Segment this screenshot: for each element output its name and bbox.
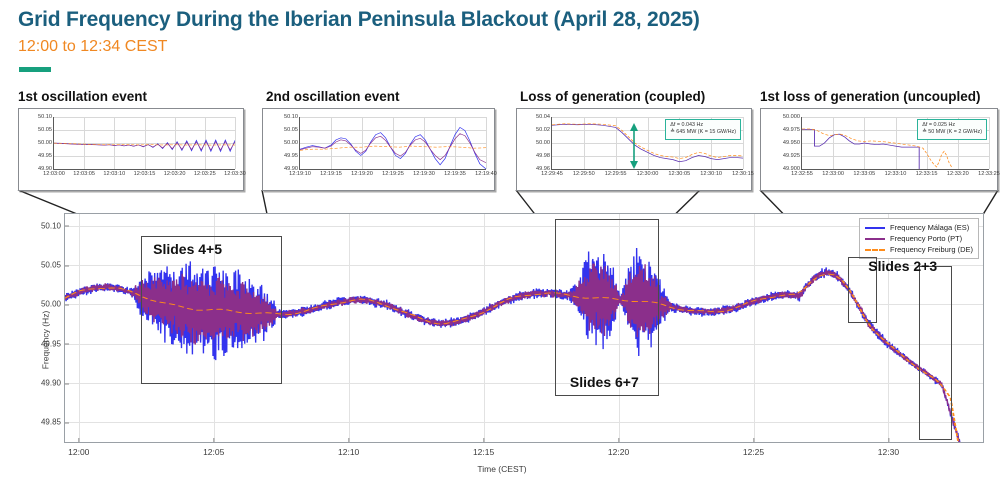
inset-3-annotation-line2: ≙ 645 MW (K = 15 GW/Hz) — [670, 129, 736, 136]
inset-4-title: 1st loss of generation (uncoupled) — [760, 89, 981, 104]
legend-swatch-porto — [865, 238, 885, 240]
inset-1-xtick: 12:03:15 — [134, 169, 156, 177]
main-xtick: 12:30 — [878, 442, 899, 457]
chart-legend: Frequency Málaga (ES) Frequency Porto (P… — [859, 218, 979, 259]
legend-label-porto: Frequency Porto (PT) — [890, 234, 962, 243]
inset-panel-loss-coupled: 50.04 50.02 50.00 49.98 49.96 12:29:45 1… — [516, 108, 752, 191]
inset-3-xtick: 12:30:10 — [700, 169, 722, 177]
inset-3-annotation-box: Δf = 0.043 Hz ≙ 645 MW (K = 15 GW/Hz) — [665, 119, 741, 140]
legend-label-malaga: Frequency Málaga (ES) — [890, 223, 969, 232]
inset-4-xtick: 12:33:20 — [947, 169, 969, 177]
callout-label-slides-2-3: Slides 2+3 — [868, 258, 937, 274]
inset-4-ytick: 50.000 — [783, 114, 802, 120]
inset-3-ytick: 50.04 — [536, 114, 552, 120]
page-subtitle: 12:00 to 12:34 CEST — [18, 38, 167, 56]
legend-label-freiburg: Frequency Freiburg (DE) — [890, 245, 973, 254]
inset-3-xtick: 12:30:05 — [668, 169, 690, 177]
main-frequency-chart: Frequency (Hz) Time (CEST) 49.85 49.90 4… — [14, 205, 990, 475]
inset-4-annotation-line2: ≙ 50 MW (K = 2 GW/Hz) — [922, 129, 982, 136]
inset-4-annotation-box: Δf = 0.025 Hz ≙ 50 MW (K = 2 GW/Hz) — [917, 119, 987, 140]
inset-4-xtick: 12:33:10 — [885, 169, 907, 177]
inset-3-title: Loss of generation (coupled) — [520, 89, 705, 104]
inset-1-ytick: 50.00 — [38, 140, 54, 146]
main-xtick: 12:20 — [608, 442, 629, 457]
inset-4-ytick: 49.950 — [783, 140, 802, 146]
inset-4-ytick: 49.975 — [783, 127, 802, 133]
main-ytick: 49.85 — [41, 418, 65, 427]
inset-3-xtick: 12:29:55 — [605, 169, 627, 177]
inset-3-xtick: 12:30:00 — [637, 169, 659, 177]
inset-2-title: 2nd oscillation event — [266, 89, 400, 104]
inset-1-traces — [54, 117, 235, 169]
callout-label-slides-4-5: Slides 4+5 — [153, 241, 222, 257]
inset-1-xtick: 12:03:20 — [164, 169, 186, 177]
inset-1-xtick: 12:03:10 — [103, 169, 125, 177]
main-ytick: 50.10 — [41, 221, 65, 230]
main-xtick: 12:05 — [203, 442, 224, 457]
delta-f-arrow-icon — [628, 123, 640, 169]
inset-1-xtick: 12:03:30 — [224, 169, 246, 177]
inset-2-ytick: 50.10 — [284, 114, 300, 120]
inset-2-xtick: 12:19:25 — [382, 169, 404, 177]
main-ytick: 50.05 — [41, 261, 65, 270]
main-ytick: 49.90 — [41, 379, 65, 388]
inset-2-xtick: 12:19:40 — [475, 169, 497, 177]
inset-1-ytick: 50.10 — [38, 114, 54, 120]
accent-bar — [19, 67, 51, 72]
inset-1-xtick: 12:03:05 — [73, 169, 95, 177]
inset-4-xtick: 12:33:15 — [916, 169, 938, 177]
inset-panel-1st-oscillation: 50.10 50.05 50.00 49.95 49.90 12:03:00 1… — [18, 108, 244, 191]
inset-2-xtick: 12:19:10 — [289, 169, 311, 177]
inset-2-xtick: 12:19:15 — [320, 169, 342, 177]
main-ytick: 49.95 — [41, 339, 65, 348]
legend-item-freiburg: Frequency Freiburg (DE) — [865, 244, 973, 255]
page-title: Grid Frequency During the Iberian Penins… — [18, 8, 700, 32]
inset-2-xtick: 12:19:35 — [444, 169, 466, 177]
inset-3-ytick: 49.98 — [536, 153, 552, 159]
inset-2-ytick: 50.00 — [284, 140, 300, 146]
main-xtick: 12:25 — [743, 442, 764, 457]
callout-label-slides-6-7: Slides 6+7 — [570, 374, 639, 390]
inset-2-xtick: 12:19:20 — [351, 169, 373, 177]
inset-3-ytick: 50.02 — [536, 127, 552, 133]
x-axis-label: Time (CEST) — [477, 464, 526, 474]
inset-panel-loss-uncoupled: 50.000 49.975 49.950 49.925 49.900 12:32… — [760, 108, 998, 191]
inset-4-xtick: 12:33:25 — [978, 169, 1000, 177]
inset-3-xtick: 12:30:15 — [732, 169, 754, 177]
inset-2-ytick: 49.95 — [284, 153, 300, 159]
inset-1-ytick: 49.95 — [38, 153, 54, 159]
legend-swatch-malaga — [865, 227, 885, 229]
inset-2-traces — [300, 117, 486, 169]
inset-1-xtick: 12:03:00 — [43, 169, 65, 177]
inset-3-xtick: 12:29:45 — [541, 169, 563, 177]
inset-3-xtick: 12:29:50 — [573, 169, 595, 177]
slide-root: Grid Frequency During the Iberian Penins… — [0, 0, 1004, 484]
inset-4-ytick: 49.925 — [783, 153, 802, 159]
main-xtick: 12:00 — [68, 442, 89, 457]
main-ytick: 50.00 — [41, 300, 65, 309]
inset-3-ytick: 50.00 — [536, 140, 552, 146]
main-xtick: 12:15 — [473, 442, 494, 457]
legend-item-malaga: Frequency Málaga (ES) — [865, 222, 973, 233]
inset-1-xtick: 12:03:25 — [194, 169, 216, 177]
callout-box-slides-4-5[interactable] — [141, 236, 281, 384]
inset-panel-2nd-oscillation: 50.10 50.05 50.00 49.95 49.90 12:19:10 1… — [262, 108, 495, 191]
inset-1-title: 1st oscillation event — [18, 89, 147, 104]
inset-4-xtick: 12:33:05 — [853, 169, 875, 177]
legend-swatch-freiburg — [865, 249, 885, 251]
main-plot-area: 49.85 49.90 49.95 50.00 50.05 50.10 12:0… — [64, 213, 984, 443]
inset-4-xtick: 12:32:55 — [791, 169, 813, 177]
inset-2-xtick: 12:19:30 — [413, 169, 435, 177]
inset-1-ytick: 50.05 — [38, 127, 54, 133]
inset-2-ytick: 50.05 — [284, 127, 300, 133]
callout-box-slides-2-3[interactable] — [919, 266, 952, 439]
legend-item-porto: Frequency Porto (PT) — [865, 233, 973, 244]
main-xtick: 12:10 — [338, 442, 359, 457]
inset-4-xtick: 12:33:00 — [822, 169, 844, 177]
callout-box-slides-6-7[interactable] — [555, 219, 659, 397]
